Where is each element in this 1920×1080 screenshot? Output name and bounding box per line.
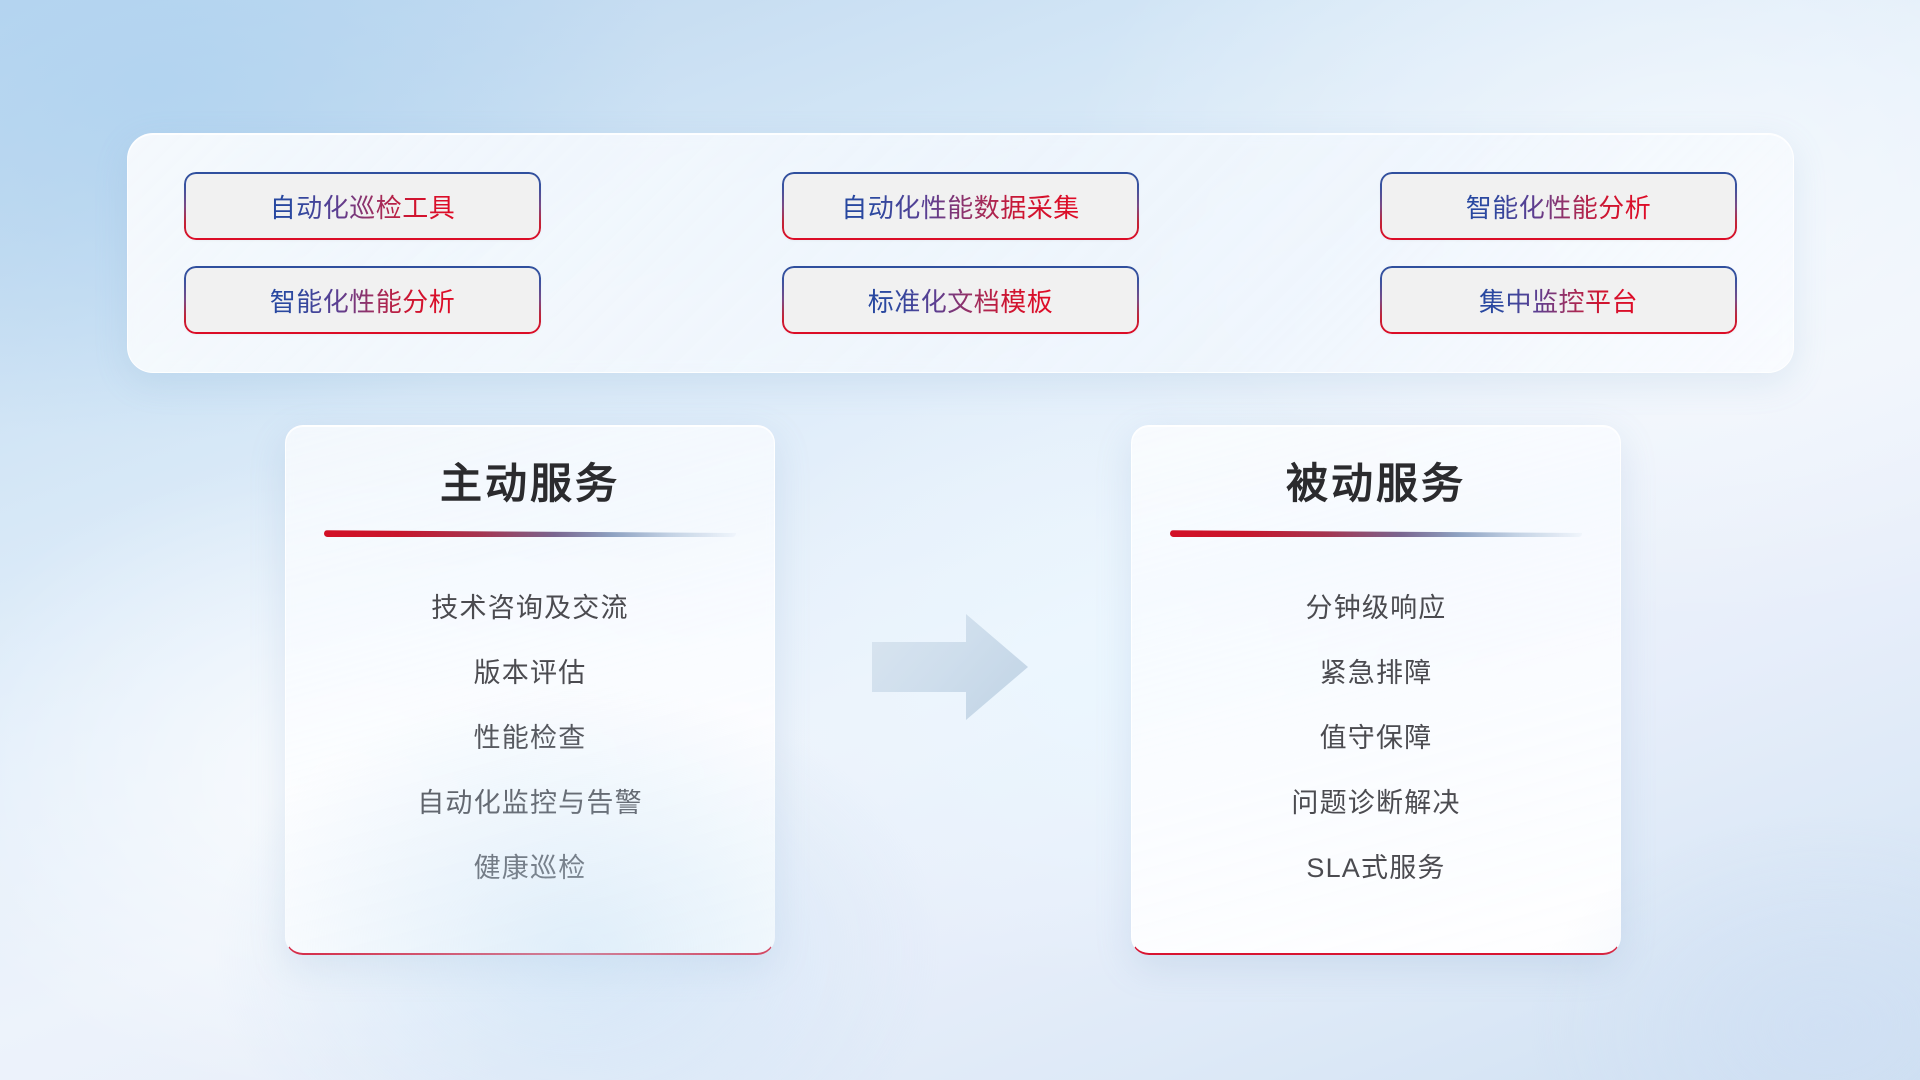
capability-pill-5[interactable]: 标准化文档模板 <box>782 266 1139 334</box>
capability-pill-4[interactable]: 智能化性能分析 <box>184 266 541 334</box>
capability-pill-label: 自动化巡检工具 <box>270 188 456 225</box>
capability-pill-label: 自动化性能数据采集 <box>841 188 1080 225</box>
card-title: 被动服务 <box>1166 460 1586 508</box>
card-item-list: 技术咨询及交流 版本评估 性能检查 自动化监控与告警 健康巡检 <box>320 537 740 927</box>
capability-pill-label: 智能化性能分析 <box>1466 188 1652 225</box>
card-title: 主动服务 <box>320 460 740 508</box>
capability-pill-1[interactable]: 自动化巡检工具 <box>184 172 541 240</box>
slide-canvas: 自动化巡检工具 自动化性能数据采集 智能化性能分析 智能化性能分析 标准化文档模… <box>0 0 1920 1080</box>
card-item-list: 分钟级响应 紧急排障 值守保障 问题诊断解决 SLA式服务 <box>1166 537 1586 927</box>
list-item: 紧急排障 <box>1166 657 1586 689</box>
capability-panel: 自动化巡检工具 自动化性能数据采集 智能化性能分析 智能化性能分析 标准化文档模… <box>127 133 1794 373</box>
list-item: 值守保障 <box>1166 722 1586 754</box>
capability-pill-6[interactable]: 集中监控平台 <box>1380 266 1737 334</box>
capability-pill-3[interactable]: 智能化性能分析 <box>1380 172 1737 240</box>
list-item: 性能检查 <box>320 722 740 754</box>
capability-row-2: 智能化性能分析 标准化文档模板 集中监控平台 <box>184 266 1737 334</box>
card-divider-accent <box>324 530 736 537</box>
list-item: SLA式服务 <box>1166 852 1586 884</box>
list-item: 技术咨询及交流 <box>320 592 740 624</box>
capability-pill-label: 标准化文档模板 <box>868 282 1054 319</box>
capability-pill-label: 智能化性能分析 <box>270 282 456 319</box>
list-item: 问题诊断解决 <box>1166 787 1586 819</box>
service-card-passive[interactable]: 被动服务 分钟级响应 紧急排障 值守保障 问题诊断解决 SLA式服务 <box>1131 425 1621 955</box>
service-card-active[interactable]: 主动服务 技术咨询及交流 版本评估 性能检查 自动化监控与告警 健康巡检 <box>285 425 775 955</box>
capability-pill-label: 集中监控平台 <box>1479 282 1638 319</box>
list-item: 自动化监控与告警 <box>320 787 740 819</box>
arrow-right-icon <box>870 612 1030 722</box>
card-divider-accent <box>1170 530 1582 537</box>
list-item: 健康巡检 <box>320 852 740 884</box>
list-item: 版本评估 <box>320 657 740 689</box>
capability-pill-2[interactable]: 自动化性能数据采集 <box>782 172 1139 240</box>
capability-row-1: 自动化巡检工具 自动化性能数据采集 智能化性能分析 <box>184 172 1737 240</box>
list-item: 分钟级响应 <box>1166 592 1586 624</box>
